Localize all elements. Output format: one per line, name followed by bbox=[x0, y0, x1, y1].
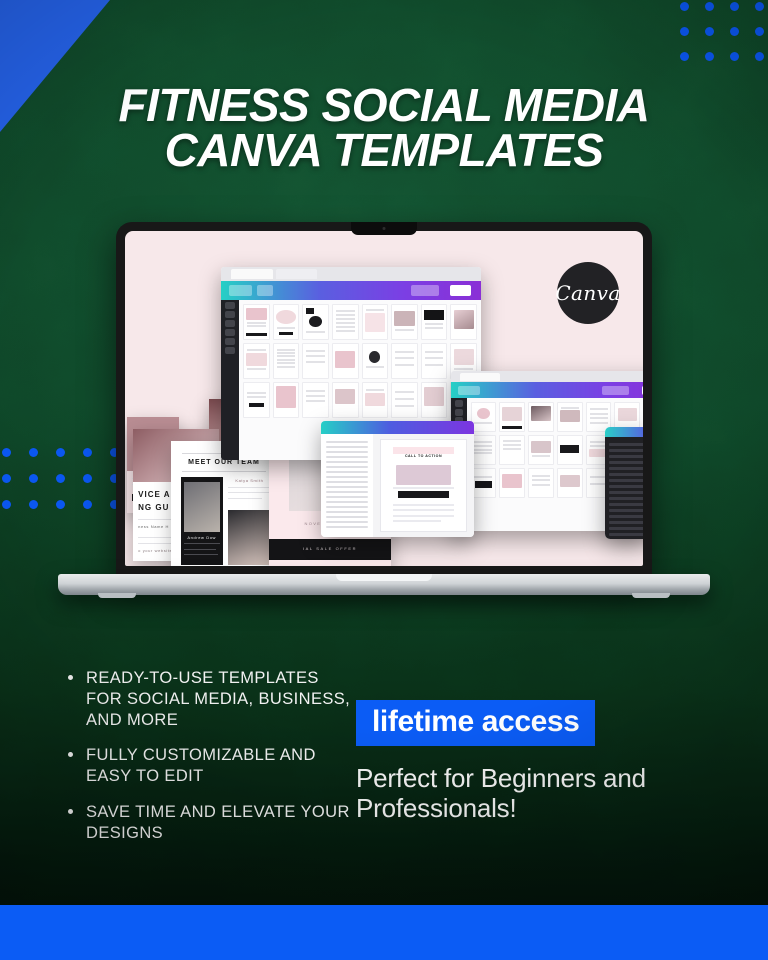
template-card[interactable] bbox=[391, 343, 418, 379]
dot bbox=[680, 52, 689, 61]
phone-mockup bbox=[605, 427, 643, 539]
laptop-mockup: Canva VICE A NG GU bbox=[116, 222, 652, 614]
template-card[interactable] bbox=[302, 304, 329, 340]
tablet-screen: CALL TO ACTION bbox=[321, 421, 474, 537]
template-card[interactable] bbox=[243, 304, 270, 340]
template-card[interactable] bbox=[243, 343, 270, 379]
browser-tab-bar-secondary bbox=[451, 371, 643, 382]
dot bbox=[29, 474, 38, 483]
canva-toolbar-tablet bbox=[321, 421, 474, 434]
dot bbox=[56, 474, 65, 483]
template-card[interactable] bbox=[302, 343, 329, 379]
browser-tab-bar bbox=[221, 267, 481, 281]
bottom-accent-bar bbox=[0, 905, 768, 960]
list-item: READY-TO-USE TEMPLATES FOR SOCIAL MEDIA,… bbox=[62, 668, 352, 731]
template-card[interactable] bbox=[243, 382, 270, 418]
dot bbox=[730, 2, 739, 11]
dot bbox=[705, 2, 714, 11]
template-card[interactable] bbox=[499, 468, 525, 498]
flyer-team-name-1: Andrew Dow bbox=[181, 535, 223, 540]
dot bbox=[56, 448, 65, 457]
template-card[interactable] bbox=[391, 382, 418, 418]
lifetime-access-badge: lifetime access bbox=[356, 700, 595, 746]
dot bbox=[56, 500, 65, 509]
laptop-notch-camera-icon bbox=[351, 222, 417, 235]
flyer-client-offer: IAL SALE OFFER bbox=[279, 546, 382, 551]
template-card[interactable] bbox=[557, 435, 583, 465]
template-card[interactable] bbox=[450, 304, 477, 340]
template-card[interactable] bbox=[471, 435, 497, 465]
phone-menu-list bbox=[605, 437, 643, 539]
tablet-mockup: CALL TO ACTION bbox=[321, 421, 474, 537]
template-card[interactable] bbox=[273, 343, 300, 379]
template-card[interactable] bbox=[499, 435, 525, 465]
dot bbox=[755, 27, 764, 36]
laptop-lid: Canva VICE A NG GU bbox=[116, 222, 652, 576]
dot bbox=[755, 52, 764, 61]
template-card[interactable] bbox=[471, 468, 497, 498]
template-card[interactable] bbox=[499, 402, 525, 432]
dot bbox=[730, 52, 739, 61]
canva-editor-tablet: CALL TO ACTION bbox=[321, 434, 474, 537]
template-card[interactable] bbox=[273, 304, 300, 340]
template-card[interactable] bbox=[528, 402, 554, 432]
phone-app-header bbox=[605, 427, 643, 437]
document-image bbox=[396, 465, 450, 485]
template-card[interactable] bbox=[362, 304, 389, 340]
laptop-foot-right bbox=[632, 593, 670, 598]
poster-canvas: FITNESS SOCIAL MEDIA CANVA TEMPLATES Can… bbox=[0, 0, 768, 960]
template-card[interactable] bbox=[421, 304, 448, 340]
template-card[interactable] bbox=[557, 468, 583, 498]
template-card[interactable] bbox=[421, 343, 448, 379]
document-header-band bbox=[393, 447, 454, 454]
dot bbox=[29, 500, 38, 509]
template-card[interactable] bbox=[273, 382, 300, 418]
dot bbox=[705, 52, 714, 61]
document-cta-button[interactable] bbox=[398, 491, 449, 498]
template-card[interactable] bbox=[362, 382, 389, 418]
template-card[interactable] bbox=[421, 382, 448, 418]
phone-screen bbox=[605, 427, 643, 539]
canva-toolbar-secondary bbox=[451, 382, 643, 398]
laptop-base bbox=[58, 574, 710, 595]
headline-line-2: CANVA TEMPLATES bbox=[0, 128, 768, 173]
template-card[interactable] bbox=[557, 402, 583, 432]
promo-block: lifetime access Perfect for Beginners an… bbox=[356, 700, 686, 823]
laptop-foot-left bbox=[98, 593, 136, 598]
list-item: SAVE TIME AND ELEVATE YOUR DESIGNS bbox=[62, 802, 352, 844]
editor-canvas: CALL TO ACTION bbox=[373, 434, 474, 537]
dot-grid-top-right bbox=[680, 2, 768, 77]
headline-line-1: FITNESS SOCIAL MEDIA bbox=[0, 83, 768, 128]
dot bbox=[29, 448, 38, 457]
canva-toolbar bbox=[221, 281, 481, 300]
dot bbox=[83, 500, 92, 509]
template-card[interactable] bbox=[332, 304, 359, 340]
dot bbox=[755, 2, 764, 11]
template-card[interactable] bbox=[471, 402, 497, 432]
canva-side-rail bbox=[221, 300, 239, 460]
flyer-team-name-2: Katya Smith bbox=[228, 478, 270, 483]
dot bbox=[705, 27, 714, 36]
template-card[interactable] bbox=[528, 435, 554, 465]
document-page[interactable]: CALL TO ACTION bbox=[380, 439, 467, 532]
dot bbox=[83, 448, 92, 457]
dot bbox=[2, 500, 11, 509]
dot bbox=[83, 474, 92, 483]
template-card[interactable] bbox=[528, 468, 554, 498]
template-card[interactable] bbox=[332, 382, 359, 418]
canva-logo-badge: Canva bbox=[557, 262, 619, 324]
dot bbox=[730, 27, 739, 36]
dot bbox=[2, 474, 11, 483]
template-card[interactable] bbox=[302, 382, 329, 418]
dot bbox=[680, 2, 689, 11]
editor-sidebar bbox=[321, 434, 373, 537]
template-card[interactable] bbox=[332, 343, 359, 379]
dot bbox=[2, 448, 11, 457]
document-title: CALL TO ACTION bbox=[393, 454, 454, 458]
laptop-screen: Canva VICE A NG GU bbox=[125, 231, 643, 566]
template-card[interactable] bbox=[391, 304, 418, 340]
dot bbox=[680, 27, 689, 36]
promo-subtitle: Perfect for Beginners and Professionals! bbox=[356, 764, 686, 823]
list-item: FULLY CUSTOMIZABLE AND EASY TO EDIT bbox=[62, 745, 352, 787]
page-title: FITNESS SOCIAL MEDIA CANVA TEMPLATES bbox=[0, 83, 768, 172]
template-card[interactable] bbox=[362, 343, 389, 379]
feature-bullet-list: READY-TO-USE TEMPLATES FOR SOCIAL MEDIA,… bbox=[62, 668, 352, 858]
